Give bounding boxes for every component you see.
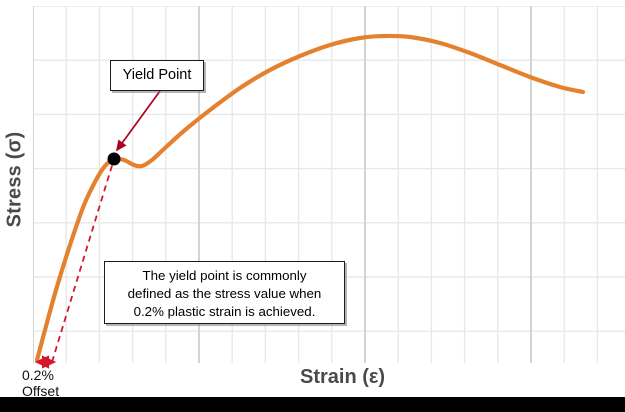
- yield-point-callout: Yield Point: [110, 60, 204, 91]
- definition-line-1: The yield point is commonly: [105, 267, 344, 285]
- bottom-black-bar: [0, 397, 625, 412]
- y-axis-title: Stress (σ): [4, 95, 27, 265]
- definition-line-3: 0.2% plastic strain is achieved.: [105, 303, 344, 321]
- offset-label-line-1: 0.2%: [22, 367, 59, 383]
- stress-strain-figure: Yield Point The yield point is commonly …: [0, 0, 625, 412]
- offset-label: 0.2% Offset: [22, 367, 59, 399]
- yield-point-label: Yield Point: [123, 67, 192, 83]
- definition-callout: The yield point is commonly defined as t…: [104, 261, 345, 324]
- definition-line-2: defined as the stress value when: [105, 285, 344, 303]
- x-axis-title: Strain (ε): [300, 366, 385, 389]
